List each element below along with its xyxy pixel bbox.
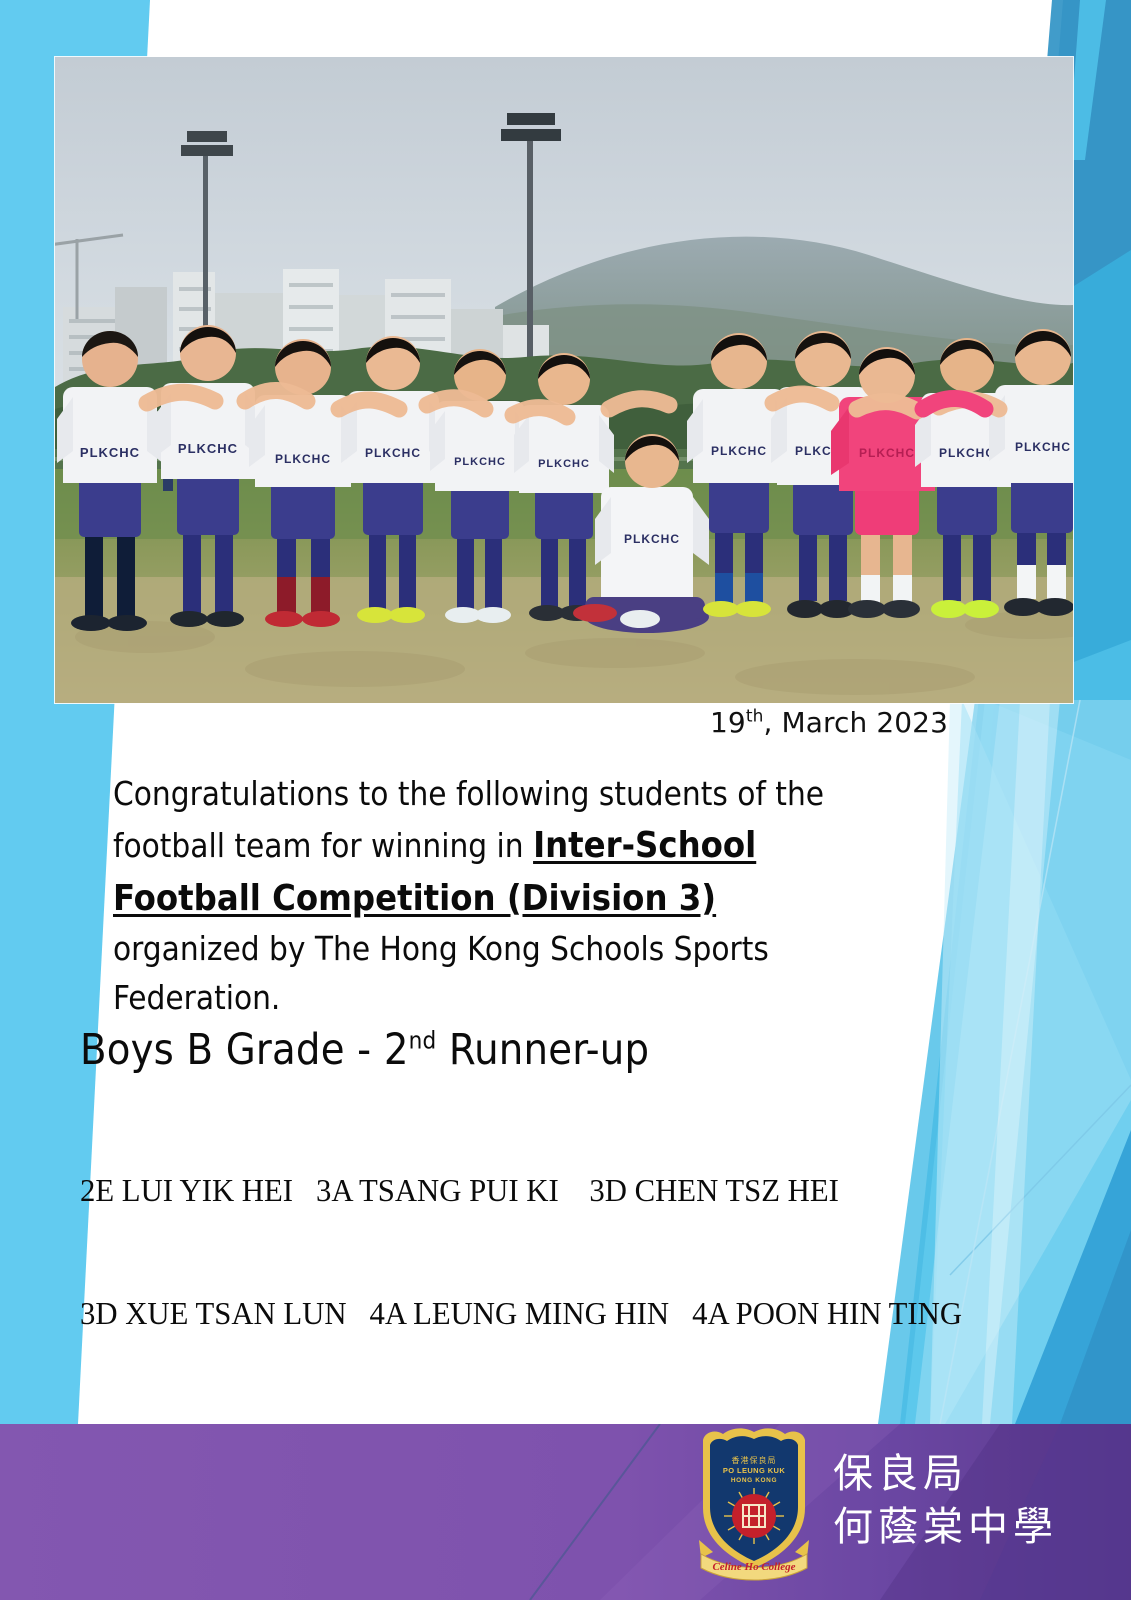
svg-text:PLKCHC: PLKCHC — [538, 458, 590, 470]
school-name-line-1: 保良局 — [833, 1448, 1058, 1501]
award-title-prefix: Boys B Grade - 2 — [80, 1025, 409, 1075]
award-title: Boys B Grade - 2nd Runner-up — [80, 1027, 1040, 1074]
school-crest-logo: 香港保良局 PO LEUNG KUK HONG KONG — [691, 1424, 817, 1592]
date-ordinal: th — [746, 707, 764, 727]
announcement-line-4: Federation. — [113, 978, 280, 1017]
announcement-text: Congratulations to the following student… — [113, 770, 943, 1023]
svg-text:PLKCHC: PLKCHC — [365, 446, 421, 460]
competition-name-line-1: Inter-School — [533, 825, 756, 866]
announcement-line-2-prefix: football team for winning in — [113, 826, 533, 865]
award-title-suffix: Runner-up — [436, 1025, 649, 1075]
competition-name-line-2: Football Competition (Division 3) — [113, 878, 716, 919]
date-rest: , March 2023 — [763, 706, 948, 739]
school-name: 保良局 何蔭棠中學 — [833, 1448, 1058, 1554]
poster-canvas: PLKCHC PLKCHC — [0, 0, 1131, 1600]
crest-ribbon-text: Celine Ho College — [712, 1561, 795, 1573]
team-photo: PLKCHC PLKCHC — [55, 57, 1073, 703]
student-row: 3D XUE TSAN LUN 4A LEUNG MING HIN 4A POO… — [80, 1293, 1040, 1334]
footer-band: 香港保良局 PO LEUNG KUK HONG KONG — [0, 1424, 1131, 1600]
crest-english-line-1: PO LEUNG KUK — [723, 1466, 785, 1475]
svg-text:PLKCHC: PLKCHC — [454, 456, 506, 468]
svg-text:PLKCHC: PLKCHC — [80, 445, 140, 460]
crest-chinese-text: 香港保良局 — [732, 1455, 777, 1465]
school-name-line-2: 何蔭棠中學 — [833, 1501, 1058, 1554]
date-day: 19 — [710, 706, 746, 739]
svg-text:PLKCHC: PLKCHC — [939, 446, 995, 460]
event-date: 19th, March 2023 — [0, 706, 948, 739]
team-photo-illustration: PLKCHC PLKCHC — [55, 57, 1073, 703]
announcement-line-1: Congratulations to the following student… — [113, 774, 824, 813]
svg-text:PLKCHC: PLKCHC — [711, 444, 767, 458]
announcement-line-3: organized by The Hong Kong Schools Sport… — [113, 929, 769, 968]
svg-text:PLKCHC: PLKCHC — [624, 532, 680, 546]
svg-text:PLKCHC: PLKCHC — [178, 441, 238, 456]
svg-text:PLKCHC: PLKCHC — [1015, 440, 1071, 454]
award-title-ordinal: nd — [409, 1027, 437, 1055]
svg-text:PLKCHC: PLKCHC — [859, 446, 915, 460]
svg-text:PLKCHC: PLKCHC — [275, 452, 331, 466]
crest-english-line-2: HONG KONG — [731, 1477, 777, 1484]
student-row: 2E LUI YIK HEI 3A TSANG PUI KI 3D CHEN T… — [80, 1170, 1040, 1211]
